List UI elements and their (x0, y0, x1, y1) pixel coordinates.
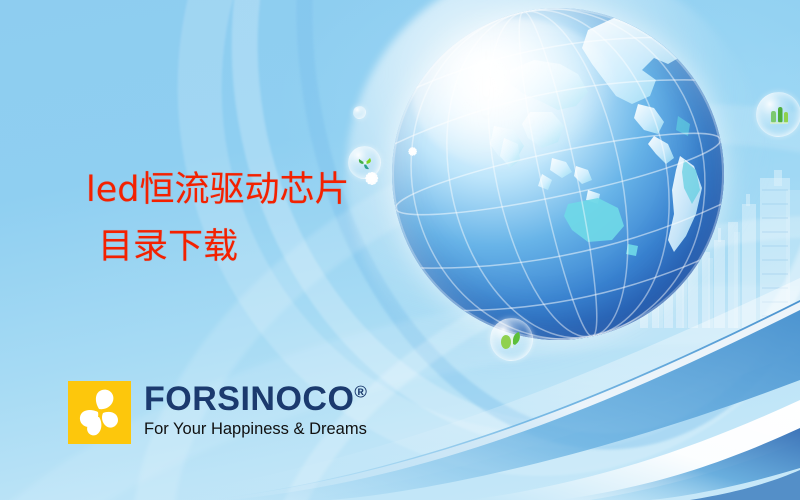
pinwheel-icon (356, 154, 374, 172)
brand-logo: FORSINOCO® For Your Happiness & Dreams (68, 381, 367, 444)
page-title: led恒流驱动芯片 目录下载 (86, 162, 349, 275)
brand-tagline: For Your Happiness & Dreams (144, 421, 367, 438)
bubble-plant-green (756, 92, 800, 137)
brand-name: FORSINOCO® (144, 382, 367, 416)
petal-flower-icon (68, 381, 131, 444)
page-title-line-2: 目录下载 (86, 219, 349, 276)
brand-logo-text: FORSINOCO® For Your Happiness & Dreams (144, 381, 367, 438)
registered-trademark-symbol: ® (354, 383, 367, 402)
plant-icon (766, 102, 792, 128)
bubble-leaf-green (490, 318, 533, 361)
page-title-line-1: led恒流驱动芯片 (86, 170, 349, 210)
sparkle-flower-small (407, 146, 419, 158)
forsinoco-petal-mark (68, 381, 131, 444)
brand-name-text: FORSINOCO (144, 380, 354, 418)
leaf-icon (499, 328, 525, 352)
slide-canvas: led恒流驱动芯片 目录下载 FORSINOCO® For Your Happi… (0, 0, 800, 500)
bottom-diagonal-swoosh (0, 260, 800, 500)
bubble-small-plain (353, 106, 366, 119)
bubble-pinwheel-green (348, 146, 381, 179)
